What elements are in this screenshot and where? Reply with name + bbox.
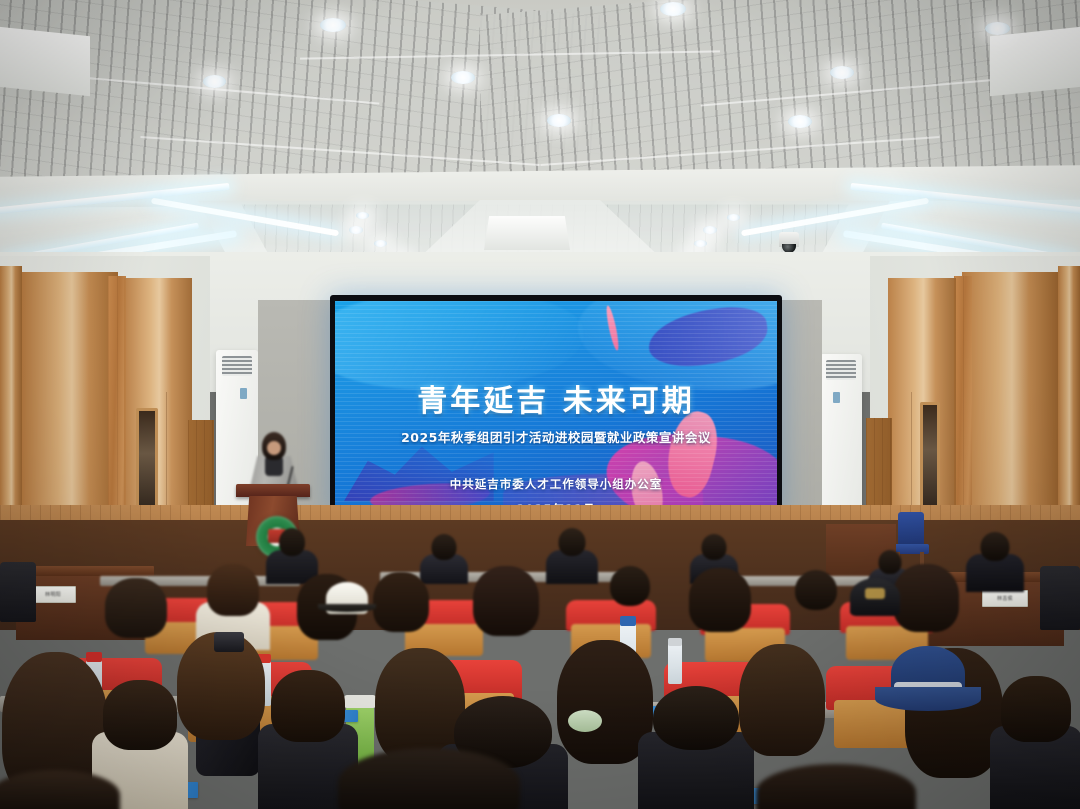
person-head — [981, 532, 1010, 561]
podium-top — [236, 484, 310, 497]
person-head — [756, 764, 916, 809]
person-head — [338, 748, 520, 809]
audience-person-foreground — [0, 770, 120, 809]
audience-person-foreground — [338, 748, 520, 809]
downlight-icon — [727, 214, 740, 221]
audience-person — [546, 528, 598, 582]
led-display-screen[interactable]: 青年延吉 未来可期 2025年秋季组团引才活动进校园暨就业政策宣讲会议 中共延吉… — [330, 295, 782, 520]
ac-grille-left — [222, 356, 252, 376]
speaker-person — [245, 432, 303, 492]
person-head — [432, 534, 457, 560]
water-bottle — [668, 638, 682, 684]
downlight-icon — [985, 22, 1010, 35]
audience-person-foreground — [756, 764, 916, 809]
person-hair — [739, 644, 825, 756]
ceiling-projector-box — [484, 216, 570, 250]
ac-indicator-right — [833, 392, 840, 403]
white-cap-icon — [326, 582, 368, 614]
downlight-icon — [703, 226, 717, 234]
person-hair — [271, 670, 345, 742]
audience-person-with-cap — [318, 582, 376, 642]
person-hair — [473, 566, 539, 636]
screen-text-block: 青年延吉 未来可期 2025年秋季组团引才活动进校园暨就业政策宣讲会议 中共延吉… — [335, 301, 777, 514]
person-head — [279, 528, 305, 556]
person-hair — [103, 680, 177, 750]
cap-logo-icon — [865, 588, 885, 599]
black-cap-icon — [850, 578, 900, 616]
audience-person — [104, 572, 168, 642]
door-window-left — [136, 408, 158, 520]
dome-camera-icon — [779, 232, 799, 247]
downlight-icon — [660, 2, 686, 16]
ceiling-air-duct — [0, 24, 90, 97]
person-hair — [207, 564, 259, 616]
screen-subtitle: 2025年秋季组团引才活动进校园暨就业政策宣讲会议 — [401, 427, 711, 446]
audience-person — [372, 568, 430, 638]
audience-person-with-hat — [880, 646, 976, 740]
downlight-icon — [547, 114, 571, 127]
led-screen-surface: 青年延吉 未来可期 2025年秋季组团引才活动进校园暨就业政策宣讲会议 中共延吉… — [335, 301, 777, 514]
bottle-cap — [668, 638, 682, 646]
audience-area — [0, 520, 1080, 809]
downlight-icon — [788, 115, 812, 128]
person-head — [0, 770, 120, 809]
screen-organization: 中共延吉市委人才工作领导小组办公室 — [450, 476, 663, 492]
person-head — [653, 686, 739, 750]
audience-person — [738, 642, 826, 766]
cap-brim — [318, 604, 375, 612]
downlight-icon — [203, 75, 226, 88]
audience-person — [688, 564, 752, 640]
downlight-icon — [349, 226, 363, 234]
downlight-icon — [356, 212, 369, 219]
person-hair — [105, 578, 167, 638]
speaker-face — [267, 441, 281, 455]
person-hair — [1001, 676, 1071, 742]
door-window-right — [920, 402, 940, 520]
audience-person — [472, 564, 540, 646]
downlight-icon — [374, 240, 387, 247]
screen-title: 青年延吉 未来可期 — [417, 376, 694, 420]
blue-bucket-hat-icon — [891, 646, 965, 704]
person-head — [559, 528, 586, 556]
ceiling-air-duct — [990, 24, 1080, 97]
downlight-icon — [694, 240, 707, 247]
audience-person — [638, 686, 754, 809]
person-head — [610, 566, 650, 606]
ac-grille-right — [826, 360, 856, 380]
hair-scrunchie — [568, 710, 602, 732]
person-head — [702, 534, 727, 560]
hat-brim — [875, 687, 982, 711]
downlight-icon — [451, 71, 475, 84]
audience-person — [788, 570, 844, 632]
person-head — [795, 570, 837, 610]
audience-person-with-cap — [844, 578, 906, 642]
downlight-icon — [320, 18, 346, 32]
person-hair — [373, 572, 429, 632]
person-hair — [689, 568, 751, 632]
audience-person — [990, 676, 1080, 809]
ac-indicator-left — [240, 388, 247, 399]
bottle-cap — [620, 616, 636, 626]
downlight-icon — [830, 66, 854, 79]
hair-clip — [214, 632, 244, 652]
audience-person — [966, 532, 1024, 590]
conference-hall-photo: 青年延吉 未来可期 2025年秋季组团引才活动进校园暨就业政策宣讲会议 中共延吉… — [0, 0, 1080, 809]
